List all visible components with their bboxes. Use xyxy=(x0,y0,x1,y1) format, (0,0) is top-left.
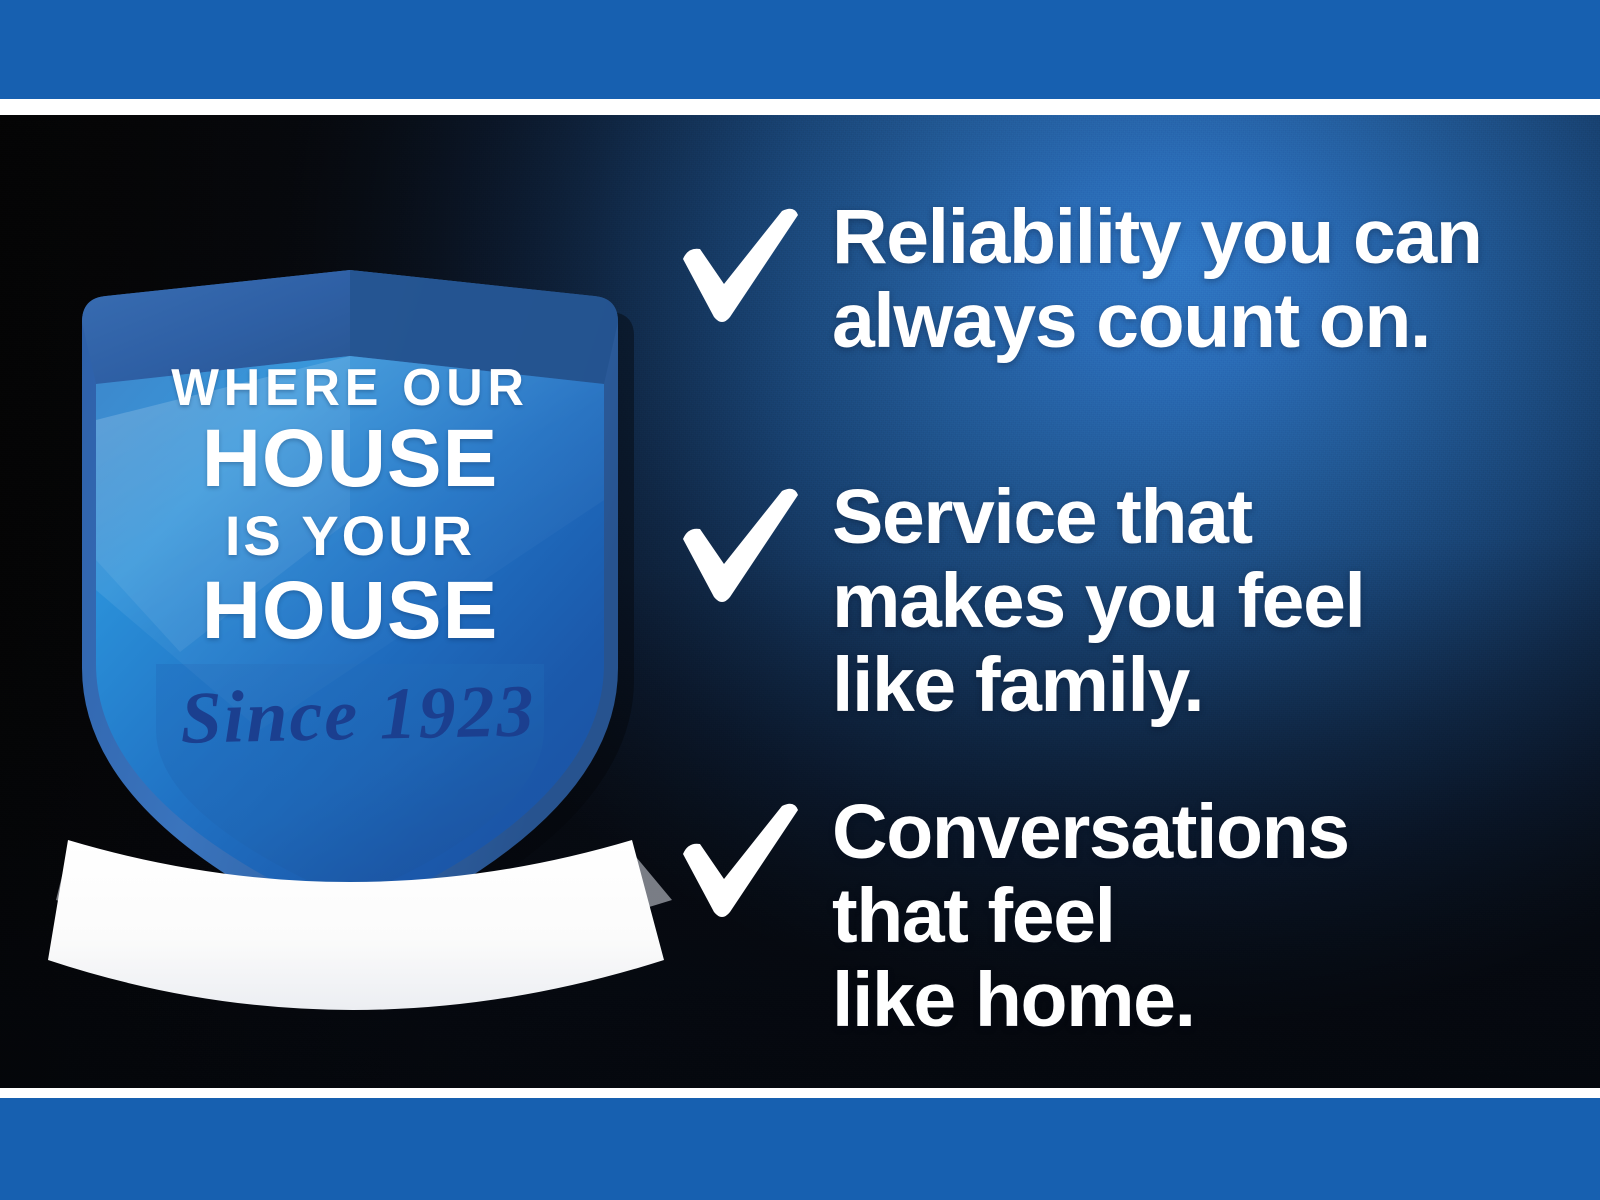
top-brand-bar xyxy=(0,0,1600,99)
promo-card: WHERE OUR HOUSE IS YOUR HOUSE Since 1923… xyxy=(0,0,1600,1200)
shield-badge: WHERE OUR HOUSE IS YOUR HOUSE Since 1923 xyxy=(60,260,640,950)
badge-line-is-your: IS YOUR xyxy=(60,508,640,564)
checklist-line: Reliability you can xyxy=(832,195,1532,279)
checklist-line: like family. xyxy=(832,643,1532,727)
checklist-line: always count on. xyxy=(832,279,1532,363)
checklist-line: makes you feel xyxy=(832,559,1532,643)
badge-line-house-2: HOUSE xyxy=(60,570,640,652)
checklist-text-conversations: Conversations that feel like home. xyxy=(832,790,1532,1042)
checkmark-icon xyxy=(670,800,800,920)
checklist-line: that feel xyxy=(832,874,1532,958)
benefits-checklist: Reliability you can always count on. Ser… xyxy=(660,110,1540,1090)
checklist-text-service: Service that makes you feel like family. xyxy=(832,475,1532,727)
checklist-line: like home. xyxy=(832,958,1532,1042)
checkmark-icon xyxy=(670,485,800,605)
checklist-line: Conversations xyxy=(832,790,1532,874)
badge-line-house-1: HOUSE xyxy=(60,418,640,500)
bottom-brand-bar xyxy=(0,1098,1600,1200)
checkmark-icon xyxy=(670,205,800,325)
checklist-text-reliability: Reliability you can always count on. xyxy=(832,195,1532,363)
banner-since-text: Since 1923 xyxy=(67,672,648,758)
checklist-line: Service that xyxy=(832,475,1532,559)
badge-line-where-our: WHERE OUR xyxy=(69,362,632,414)
